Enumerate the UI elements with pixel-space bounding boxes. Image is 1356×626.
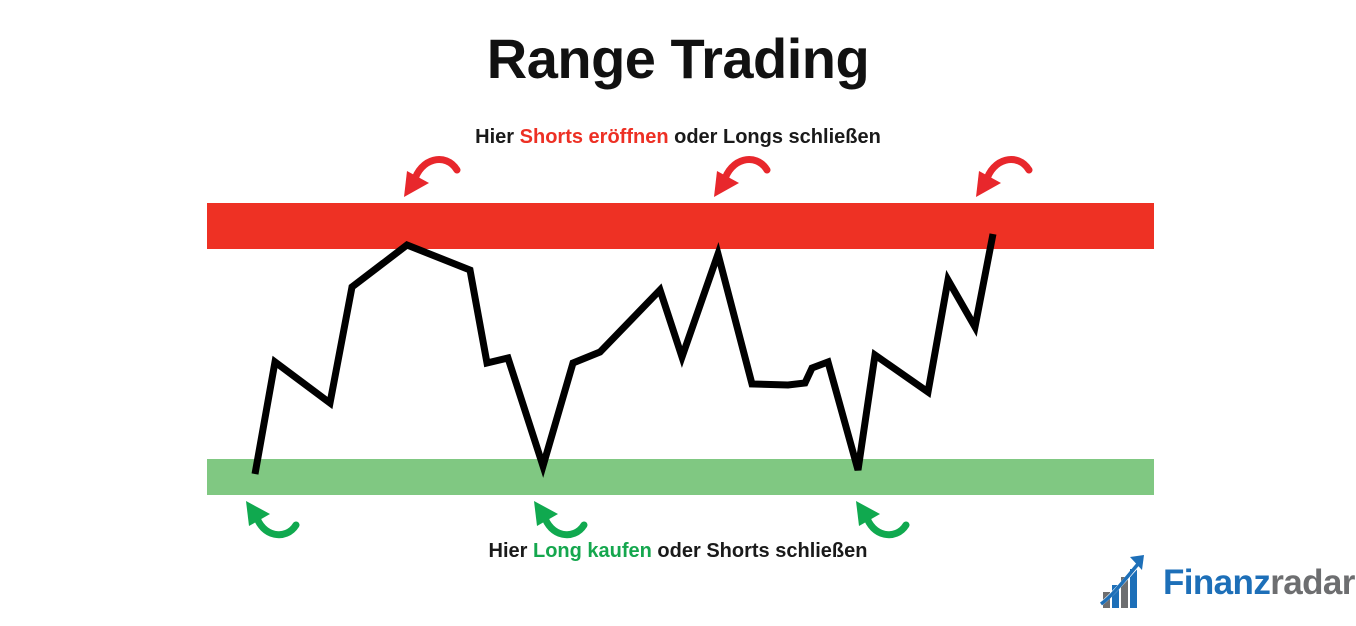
sell-arrow-icon-3	[976, 160, 1029, 197]
range-trading-infographic: Range Trading Hier Shorts eröffnen oder …	[0, 0, 1356, 626]
buy-arrow-icon-3	[856, 501, 906, 535]
resistance-caption-prefix: Hier	[475, 126, 519, 148]
buy-arrows-group	[0, 0, 1356, 626]
sell-arrows-group	[0, 0, 1356, 626]
price-polyline	[255, 234, 993, 474]
brand-logo[interactable]: Finanzradar	[1097, 552, 1355, 614]
support-caption-prefix: Hier	[489, 540, 533, 562]
page-title: Range Trading	[0, 28, 1356, 90]
buy-arrow-icon-1	[246, 501, 296, 535]
brand-logo-text: Finanzradar	[1163, 563, 1355, 603]
sell-arrow-icon-2	[714, 160, 767, 197]
price-line-chart	[0, 0, 1356, 626]
resistance-band	[207, 203, 1154, 249]
brand-name-secondary: radar	[1270, 563, 1355, 602]
support-caption-highlight: Long kaufen	[533, 540, 652, 562]
resistance-caption-highlight: Shorts eröffnen	[520, 126, 669, 148]
support-band	[207, 459, 1154, 495]
brand-name-primary: Finanz	[1163, 563, 1270, 602]
bar-chart-arrow-icon	[1097, 552, 1159, 614]
resistance-caption-suffix: oder Longs schließen	[669, 126, 881, 148]
buy-arrow-icon-2	[534, 501, 584, 535]
support-caption-suffix: oder Shorts schließen	[652, 540, 868, 562]
sell-arrow-icon-1	[404, 160, 457, 197]
resistance-caption: Hier Shorts eröffnen oder Longs schließe…	[0, 126, 1356, 149]
